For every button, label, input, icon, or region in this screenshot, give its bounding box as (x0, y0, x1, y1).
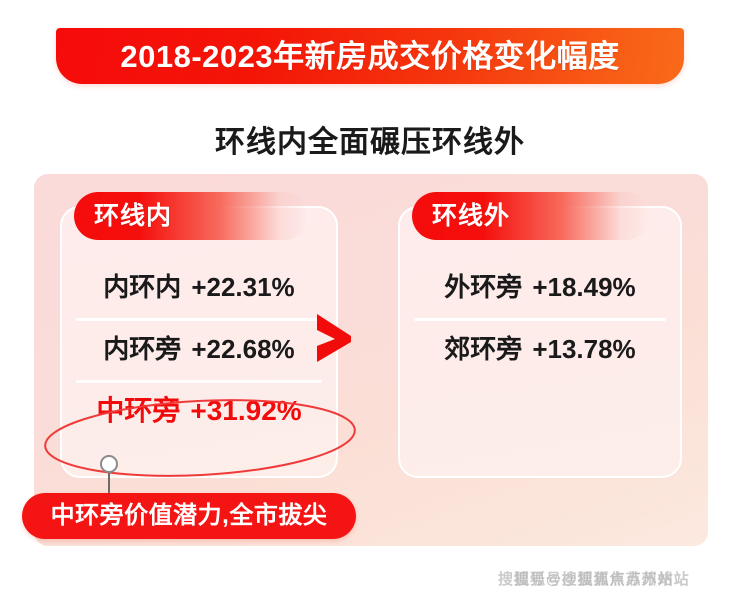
table-row: 外环旁 +18.49% (400, 256, 680, 318)
table-row: 郊环旁 +13.78% (400, 318, 680, 380)
page-title: 2018-2023年新房成交价格变化幅度 (120, 41, 619, 72)
row-value: +18.49% (532, 274, 635, 300)
greater-than-icon (313, 312, 355, 364)
panel-outside-ring: 环线外 外环旁 +18.49% 郊环旁 +13.78% (398, 206, 682, 478)
watermark: 搜狐号@搜狐焦点苏州站 搜狐号@搜狐焦点苏州站 (484, 565, 734, 591)
title-banner: 2018-2023年新房成交价格变化幅度 (56, 28, 684, 84)
panel-badge-inside-ring: 环线内 (74, 192, 308, 240)
rows-inside-ring: 内环内 +22.31% 内环旁 +22.68% 中环旁 +31.92% (62, 256, 336, 442)
panel-badge-label: 环线内 (94, 204, 172, 229)
table-row: 内环旁 +22.68% (62, 318, 336, 380)
subtitle: 环线内全面碾压环线外 (0, 117, 740, 161)
row-label: 内环内 (103, 274, 181, 300)
row-label: 郊环旁 (444, 336, 522, 362)
rows-outside-ring: 外环旁 +18.49% 郊环旁 +13.78% (400, 256, 680, 380)
row-label: 内环旁 (103, 336, 181, 362)
table-row-highlighted: 中环旁 +31.92% (62, 380, 336, 442)
callout-label: 中环旁价值潜力,全市拔尖 (51, 504, 328, 528)
panel-badge-label: 环线外 (432, 204, 510, 229)
row-value: +31.92% (190, 397, 301, 425)
callout-badge: 中环旁价值潜力,全市拔尖 (22, 493, 356, 539)
row-label: 中环旁 (96, 397, 180, 425)
panel-badge-outside-ring: 环线外 (412, 192, 650, 240)
row-value: +13.78% (532, 336, 635, 362)
row-value: +22.31% (191, 274, 294, 300)
comparison-card: 环线内 内环内 +22.31% 内环旁 +22.68% 中环旁 +31.92% (34, 174, 708, 546)
row-label: 外环旁 (444, 274, 522, 300)
infographic-page: 2018-2023年新房成交价格变化幅度 环线内全面碾压环线外 环线内 内环内 … (0, 0, 740, 598)
watermark-text-front: 搜狐号@搜狐焦点苏州站 (498, 568, 674, 589)
panel-inside-ring: 环线内 内环内 +22.31% 内环旁 +22.68% 中环旁 +31.92% (60, 206, 338, 478)
table-row: 内环内 +22.31% (62, 256, 336, 318)
row-value: +22.68% (191, 336, 294, 362)
